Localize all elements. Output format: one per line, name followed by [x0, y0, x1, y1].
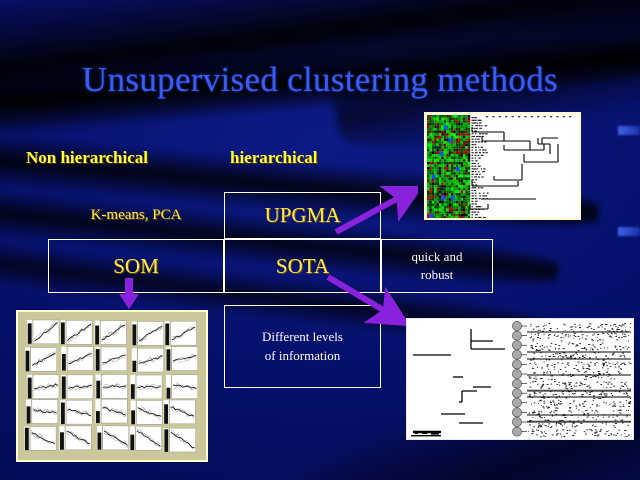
- figure-sota-tree-profile-panel: [406, 318, 634, 440]
- different-levels-line-1: Different levels: [262, 328, 343, 347]
- sota-tree-graphic: [407, 319, 633, 439]
- heatmap-dendrogram-graphic: [426, 114, 579, 218]
- edge-accent-band: [618, 126, 640, 135]
- quick-robust-line-1: quick and: [412, 248, 463, 266]
- cell-kmeans-pca: K-means, PCA: [48, 192, 224, 239]
- quick-robust-line-2: robust: [412, 266, 463, 284]
- page-title: Unsupervised clustering methods: [0, 60, 640, 100]
- figure-som-component-plane-grid: [16, 310, 208, 462]
- different-levels-line-2: of information: [262, 347, 343, 366]
- figure-upgma-heatmap-dendrogram: [424, 112, 581, 220]
- column-heading-hierarchical: hierarchical: [230, 148, 318, 168]
- arrow-sota-to-tree: [324, 272, 408, 326]
- column-heading-non-hierarchical: Non hierarchical: [26, 148, 148, 168]
- som-grid-graphic: [18, 312, 206, 460]
- edge-accent-band: [618, 227, 640, 236]
- arrow-som-to-grid: [118, 278, 140, 312]
- arrow-upgma-to-heatmap: [332, 186, 418, 238]
- slide-canvas: Unsupervised clustering methods Non hier…: [0, 0, 640, 480]
